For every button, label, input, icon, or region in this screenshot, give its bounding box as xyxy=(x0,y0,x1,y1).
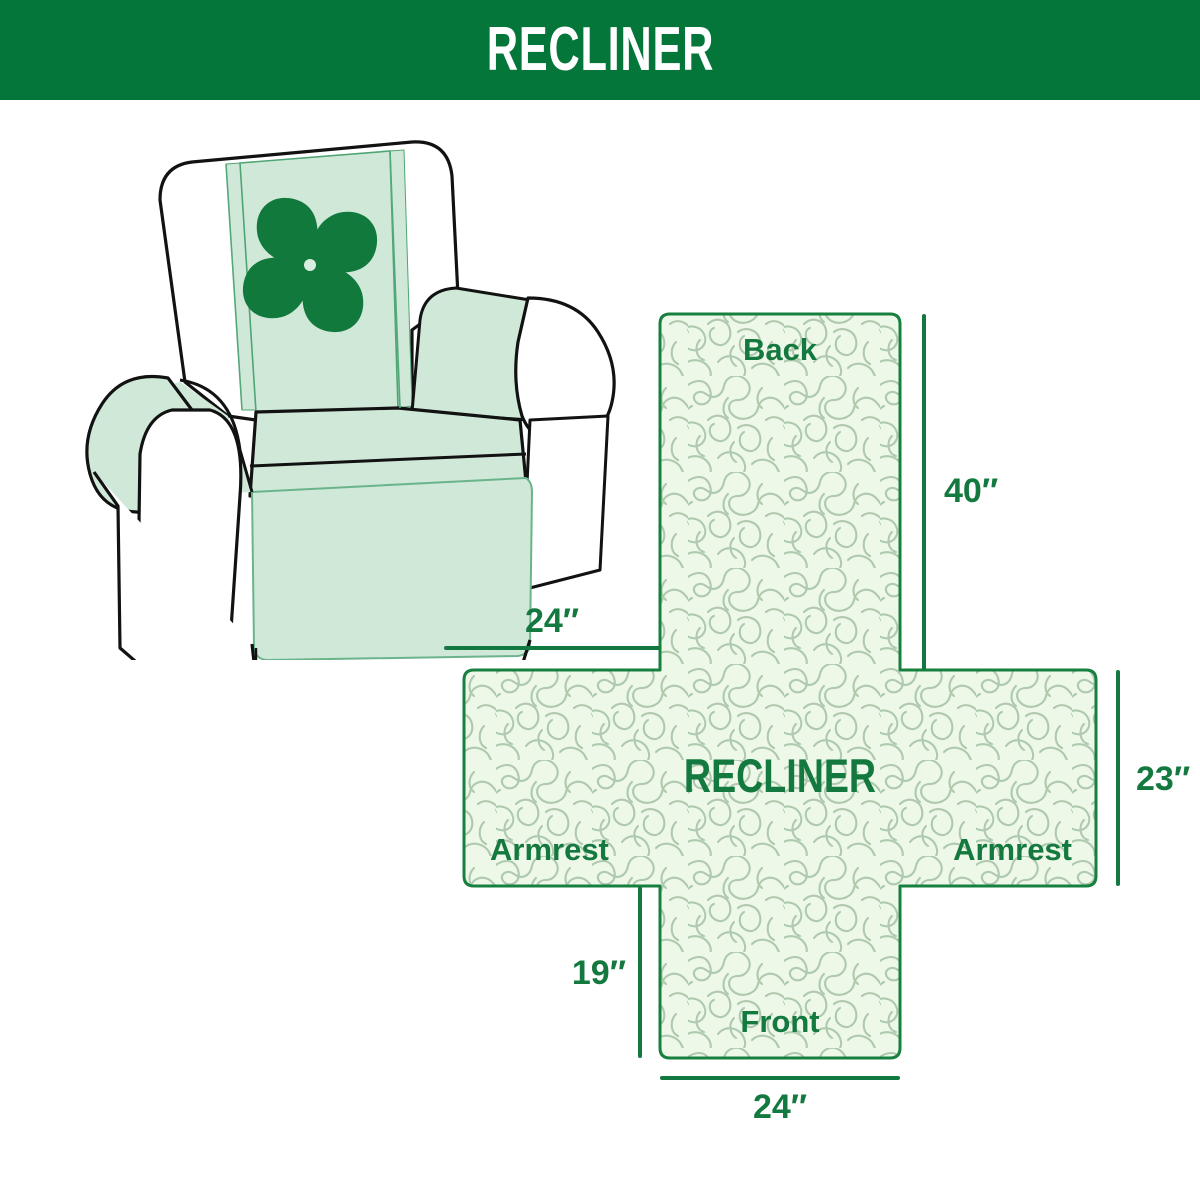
dimension-front-width: 24″ xyxy=(662,1078,898,1126)
dimension-arm-width: 24″ xyxy=(446,602,658,648)
dimension-front-height-value: 19″ xyxy=(572,954,626,992)
pattern-diagram: Back RECLINER Armrest Armrest Front 40″ … xyxy=(400,280,1200,1180)
center-label-recliner: RECLINER xyxy=(684,750,876,803)
dimension-back-height: 40″ xyxy=(924,316,998,668)
dimension-arm-height-value: 23″ xyxy=(1136,760,1190,798)
panel-label-left-armrest: Armrest xyxy=(490,832,609,867)
dimension-arm-height: 23″ xyxy=(1118,672,1190,884)
dimension-front-width-value: 24″ xyxy=(753,1088,807,1126)
dimension-back-height-value: 40″ xyxy=(944,472,998,510)
dimension-front-height: 19″ xyxy=(572,888,640,1056)
panel-label-front: Front xyxy=(740,1004,819,1039)
panel-label-back: Back xyxy=(743,332,818,367)
dimension-arm-width-value: 24″ xyxy=(525,602,579,640)
header-banner: RECLINER xyxy=(0,0,1200,100)
page-title: RECLINER xyxy=(486,19,713,81)
slipcover-cross-shape xyxy=(464,314,1096,1058)
diagram-stage: Back RECLINER Armrest Armrest Front 40″ … xyxy=(0,100,1200,1200)
panel-label-right-armrest: Armrest xyxy=(953,832,1072,867)
pinwheel-fan-logo xyxy=(243,198,377,332)
